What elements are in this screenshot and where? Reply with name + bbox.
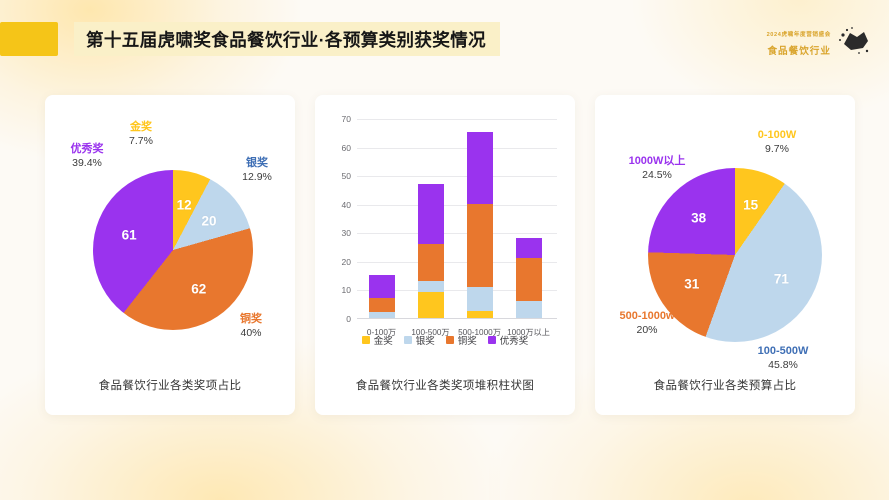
pie-slice-label-name: 金奖 — [129, 121, 153, 135]
bar-segment — [467, 311, 493, 318]
bar-segment — [369, 312, 395, 318]
bar-chart-gridline — [357, 148, 557, 149]
pie-chart-award-share: 12金奖7.7%20银奖12.9%62铜奖40%61优秀奖39.4% — [45, 95, 295, 415]
event-logo-line1: 2024虎啸年度营销盛会 — [767, 32, 831, 38]
event-logo: 2024虎啸年度营销盛会 食品餐饮行业 — [737, 20, 871, 62]
pie-slice-label-name: 0-100W — [758, 129, 797, 143]
legend-item[interactable]: 优秀奖 — [488, 333, 529, 347]
legend-label: 银奖 — [416, 333, 435, 347]
bar-segment — [418, 184, 444, 244]
pie-slice-label-percent: 12.9% — [242, 171, 272, 184]
page-title-chip: 第十五届虎啸奖食品餐饮行业·各预算类别获奖情况 — [74, 22, 500, 56]
pie-slice-label-name: 100-500W — [758, 345, 809, 359]
pie-slice-label: 1000W以上24.5% — [629, 155, 686, 182]
event-logo-text: 2024虎啸年度营销盛会 食品餐饮行业 — [737, 23, 831, 59]
legend-label: 金奖 — [374, 333, 393, 347]
pie-slice-label-name: 银奖 — [242, 157, 272, 171]
bar-chart-bar[interactable] — [369, 275, 395, 318]
bar-chart-bar[interactable] — [418, 184, 444, 318]
event-logo-line2: 食品餐饮行业 — [767, 46, 831, 57]
legend-label: 优秀奖 — [500, 333, 529, 347]
bar-segment — [516, 258, 542, 301]
bar-segment — [516, 301, 542, 318]
bar-chart-bar[interactable] — [516, 238, 542, 318]
tiger-mark-icon — [837, 26, 871, 56]
bar-segment — [369, 298, 395, 312]
pie-slice-label-percent: 40% — [240, 327, 262, 340]
legend-item[interactable]: 银奖 — [404, 333, 435, 347]
pie-slice-label-percent: 7.7% — [129, 135, 153, 148]
bar-chart-legend: 金奖银奖铜奖优秀奖 — [315, 333, 575, 347]
pie-slice-label: 银奖12.9% — [242, 157, 272, 184]
bar-chart-gridline — [357, 233, 557, 234]
bar-chart-y-tick: 70 — [342, 114, 351, 124]
legend-item[interactable]: 金奖 — [362, 333, 393, 347]
bar-chart-y-tick: 10 — [342, 285, 351, 295]
pie-slice-label: 0-100W9.7% — [758, 129, 797, 156]
pie-chart-budget-share: 150-100W9.7%71100-500W45.8%31500-1000w20… — [595, 95, 855, 415]
pie-slice-value: 20 — [202, 213, 217, 228]
legend-swatch — [488, 336, 496, 344]
bar-chart-y-tick: 50 — [342, 171, 351, 181]
bar-chart-y-tick: 0 — [346, 314, 351, 324]
bar-chart-gridline — [357, 205, 557, 206]
card-award-stacked-bar: 0102030405060700-100万100-500万500-1000万10… — [315, 95, 575, 415]
pie-slice-label-percent: 39.4% — [71, 157, 104, 170]
bar-segment — [516, 238, 542, 258]
pie-body — [93, 170, 253, 330]
bar-chart-plot-area: 0102030405060700-100万100-500万500-1000万10… — [357, 119, 553, 319]
card-award-share: 12金奖7.7%20银奖12.9%62铜奖40%61优秀奖39.4% 食品餐饮行… — [45, 95, 295, 415]
pie-slice-label: 铜奖40% — [240, 313, 262, 340]
pie-slice-label-percent: 20% — [619, 324, 674, 337]
pie-slice-label-name: 优秀奖 — [71, 143, 104, 157]
card-budget-share-caption: 食品餐饮行业各类预算占比 — [595, 377, 855, 393]
pie-slice-label: 金奖7.7% — [129, 121, 153, 148]
bar-chart-gridline — [357, 119, 557, 120]
bar-segment — [418, 292, 444, 318]
bar-chart-gridline — [357, 176, 557, 177]
bar-chart-y-tick: 30 — [342, 228, 351, 238]
pie-slice-label-name: 1000W以上 — [629, 155, 686, 169]
bar-segment — [467, 132, 493, 203]
pie-slice-label-name: 铜奖 — [240, 313, 262, 327]
legend-swatch — [404, 336, 412, 344]
pie-slice-label-percent: 45.8% — [758, 359, 809, 372]
title-accent-bar — [0, 22, 58, 56]
page-header: 第十五届虎啸奖食品餐饮行业·各预算类别获奖情况 — [0, 22, 500, 56]
bar-chart-bar[interactable] — [467, 132, 493, 318]
pie-slice-label: 优秀奖39.4% — [71, 143, 104, 170]
legend-swatch — [446, 336, 454, 344]
bar-segment — [467, 287, 493, 311]
bar-segment — [467, 204, 493, 287]
bar-segment — [418, 281, 444, 292]
pie-slice-label: 100-500W45.8% — [758, 345, 809, 372]
card-award-share-caption: 食品餐饮行业各类奖项占比 — [45, 377, 295, 393]
pie-slice-label-name: 500-1000w — [619, 310, 674, 324]
bar-chart-y-tick: 60 — [342, 143, 351, 153]
legend-label: 铜奖 — [458, 333, 477, 347]
pie-slice-label-percent: 9.7% — [758, 143, 797, 156]
pie-slice-value: 62 — [191, 281, 206, 296]
pie-slice-value: 61 — [122, 227, 137, 242]
bar-chart-y-tick: 20 — [342, 257, 351, 267]
legend-item[interactable]: 铜奖 — [446, 333, 477, 347]
pie-slice-value: 71 — [774, 271, 789, 286]
legend-swatch — [362, 336, 370, 344]
page-title: 第十五届虎啸奖食品餐饮行业·各预算类别获奖情况 — [86, 27, 486, 52]
card-budget-share: 150-100W9.7%71100-500W45.8%31500-1000w20… — [595, 95, 855, 415]
bar-segment — [369, 275, 395, 298]
pie-slice-label-percent: 24.5% — [629, 169, 686, 182]
pie-slice-label: 500-1000w20% — [619, 310, 674, 337]
pie-slice-value: 31 — [684, 277, 699, 292]
pie-slice-value: 15 — [743, 198, 758, 213]
bar-chart-axis-line — [357, 318, 557, 319]
card-bar-caption: 食品餐饮行业各类奖项堆积柱状图 — [315, 377, 575, 393]
pie-slice-value: 12 — [177, 197, 192, 212]
pie-slice-value: 38 — [691, 210, 706, 225]
bar-chart-y-tick: 40 — [342, 200, 351, 210]
bar-segment — [418, 244, 444, 281]
